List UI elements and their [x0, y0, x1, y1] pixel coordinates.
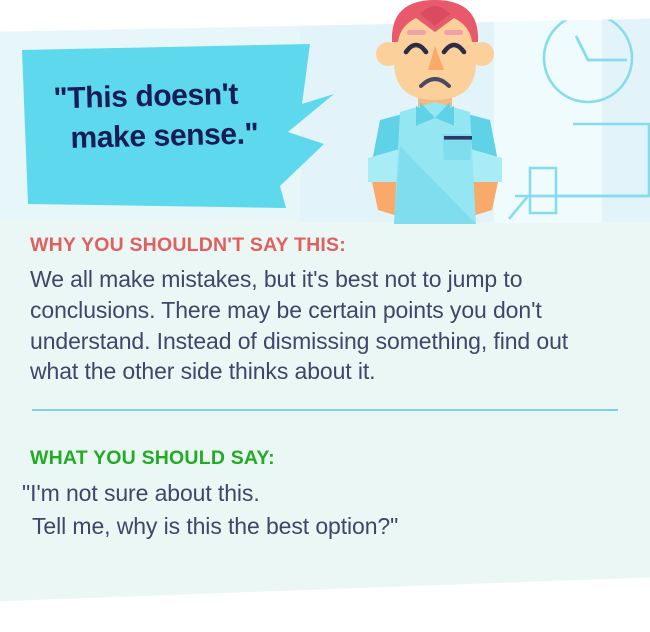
- eyebrow-right: [444, 30, 463, 35]
- say-heading: WHAT YOU SHOULD SAY:: [30, 447, 620, 470]
- eyebrow-left: [407, 30, 426, 35]
- say-quote-line-1: "I'm not sure about this.: [22, 477, 620, 510]
- infographic-card: "This doesn't make sense.": [0, 0, 650, 632]
- say-section: WHAT YOU SHOULD SAY: "I'm not sure about…: [0, 411, 650, 542]
- content-area: WHY YOU SHOULDN'T SAY THIS: We all make …: [0, 226, 650, 543]
- say-quote-line-2: Tell me, why is this the best option?": [32, 510, 620, 543]
- why-heading: WHY YOU SHOULDN'T SAY THIS:: [30, 234, 620, 257]
- why-body-text: We all make mistakes, but it's best not …: [30, 264, 620, 387]
- speech-bubble-line-1: "This doesn't: [53, 73, 322, 119]
- bottom-white-band: [0, 576, 650, 632]
- why-section: WHY YOU SHOULDN'T SAY THIS: We all make …: [0, 226, 650, 387]
- character-illustration: [324, 0, 544, 224]
- speech-bubble-line-2: make sense.": [54, 112, 323, 158]
- pocket-pen: [444, 136, 472, 140]
- speech-bubble: "This doesn't make sense.": [18, 36, 348, 216]
- speech-bubble-text: "This doesn't make sense.": [53, 73, 323, 159]
